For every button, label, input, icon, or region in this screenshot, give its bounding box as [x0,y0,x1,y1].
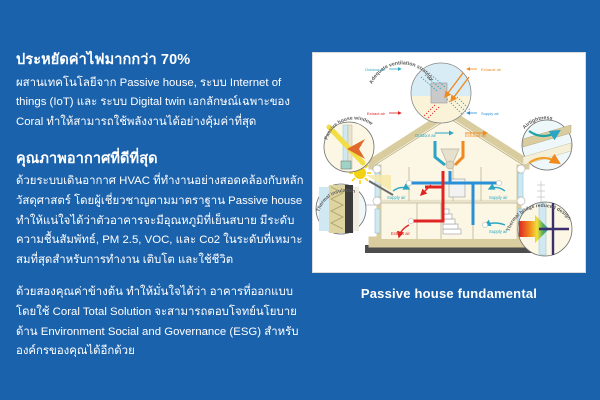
air-quality-heading: คุณภาพอากาศที่ดีที่สุด [16,149,306,171]
passive-house-diagram-svg: Outdoor air Exhaust air Supply air Suppl… [313,53,585,272]
label-supply-air-lower: Supply air [489,229,508,234]
diagram-caption: Passive house fundamental [313,286,585,301]
label-extract-air: Extract air [391,231,410,236]
section-esg: ด้วยสองคุณค่าข้างต้น ทำให้มั่นใจได้ว่า อ… [16,283,306,361]
section-energy-saving: ประหยัดค่าไฟมากกว่า 70% ผสานเทคโนโลยีจาก… [16,50,306,133]
label-outdoor-air-roof: Outdoor air [415,133,437,138]
energy-saving-heading: ประหยัดค่าไฟมากกว่า 70% [16,50,306,72]
label-supply-air-left: Supply air [387,195,406,200]
air-quality-body: ด้วยระบบเดินอากาศ HVAC ที่ทำงานอย่างสอดค… [16,172,306,270]
vent-label-supply-air: Supply air [481,111,499,116]
vent-label-exhaust-air: Exhaust air [481,67,502,72]
label-exhaust-air-roof: Exhaust air [465,133,487,138]
spacer-1 [16,133,306,149]
slide-root: ประหยัดค่าไฟมากกว่า 70% ผสานเทคโนโลยีจาก… [0,0,600,400]
label-supply-air-right: Supply air [489,195,508,200]
vent-label-extract-air: Extract air [367,111,386,116]
callout-insulation: Thermal insulation [315,184,366,234]
section-air-quality: คุณภาพอากาศที่ดีที่สุด ด้วยระบบเดินอากาศ… [16,149,306,271]
energy-saving-body: ผสานเทคโนโลยีจาก Passive house, ระบบ Int… [16,74,306,133]
left-text-column: ประหยัดค่าไฟมากกว่า 70% ผสานเทคโนโลยีจาก… [16,50,306,362]
esg-body: ด้วยสองคุณค่าข้างต้น ทำให้มั่นใจได้ว่า อ… [16,283,306,361]
passive-house-diagram-panel: Outdoor air Exhaust air Supply air Suppl… [313,53,585,272]
vent-label-outdoor-air: Outdoor air [365,67,386,72]
spacer-2 [16,270,306,283]
